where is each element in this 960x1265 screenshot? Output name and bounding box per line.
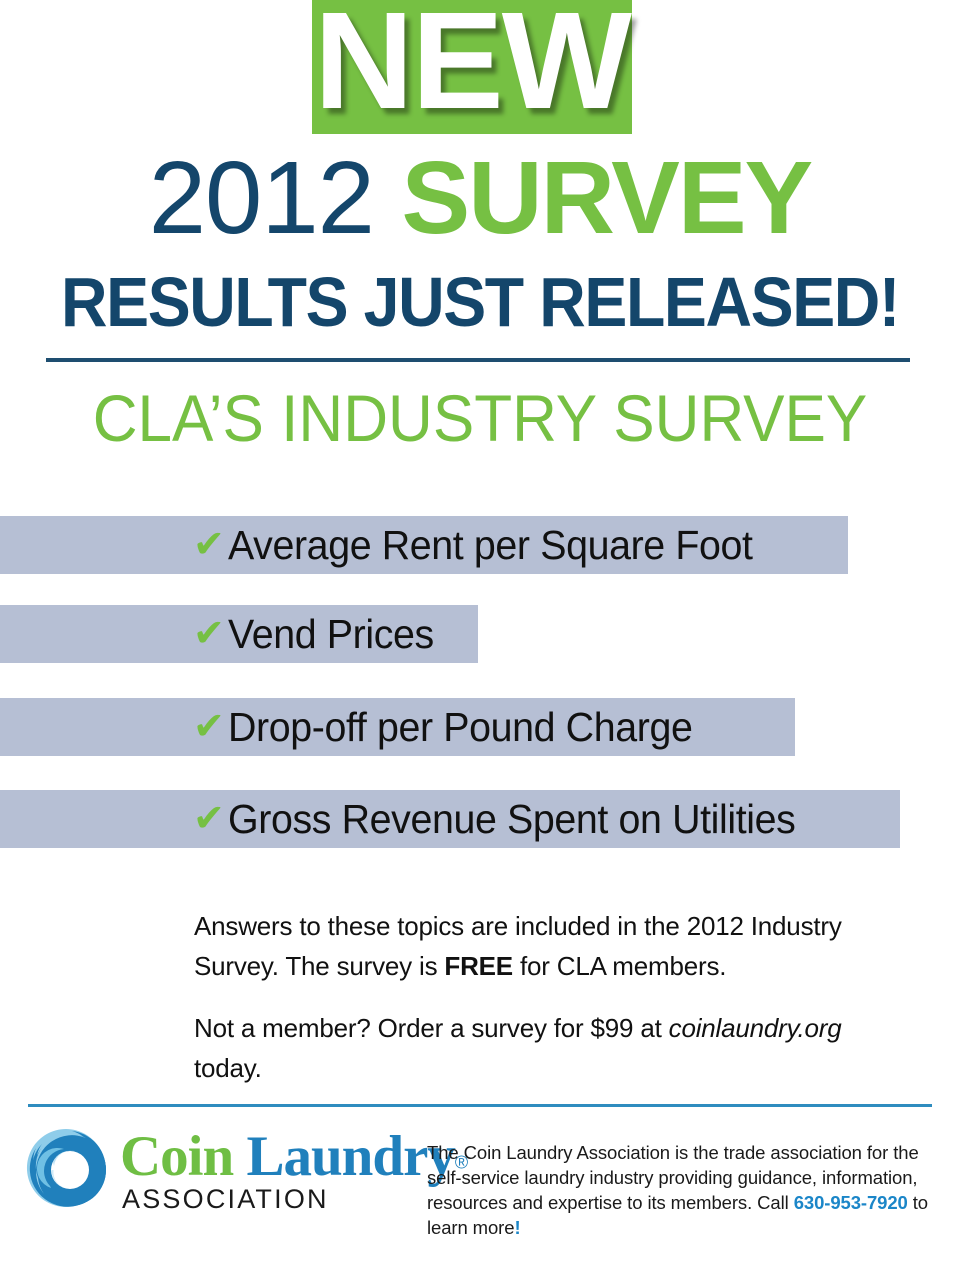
- flyer-page: NEW 2012 SURVEY RESULTS JUST RELEASED! C…: [0, 0, 960, 1265]
- body-paragraph-2: Not a member? Order a survey for $99 at …: [194, 1008, 914, 1088]
- bullet-label-3: Drop-off per Pound Charge: [228, 704, 692, 751]
- logo-coin-text: Coin: [120, 1125, 233, 1188]
- check-icon: ✔: [193, 614, 225, 652]
- headline-tertiary: CLA’S INDUSTRY SURVEY: [29, 378, 931, 458]
- divider-rule-footer: [28, 1104, 932, 1107]
- headline-survey: SURVEY: [402, 140, 812, 255]
- headline-year: 2012: [149, 140, 374, 255]
- bullet-item-1: ✔ Average Rent per Square Foot: [0, 516, 960, 574]
- bullet-item-2: ✔ Vend Prices: [0, 605, 960, 663]
- logo-wordmark: Coin Laundry®: [120, 1124, 468, 1189]
- footer-phone-number[interactable]: 630-953-7920: [794, 1192, 908, 1213]
- bullet-label-1: Average Rent per Square Foot: [228, 522, 753, 569]
- new-banner: NEW: [312, 0, 632, 134]
- body-paragraph-1: Answers to these topics are included in …: [194, 906, 914, 986]
- bullet-label-2: Vend Prices: [228, 611, 434, 658]
- divider-rule-top: [46, 358, 910, 362]
- body-p1-free: FREE: [444, 951, 513, 981]
- headline-space: [374, 140, 402, 255]
- footer-exclamation: !: [514, 1217, 520, 1238]
- check-icon: ✔: [193, 799, 225, 837]
- footer-description: The Coin Laundry Association is the trad…: [427, 1140, 937, 1240]
- bullet-item-3: ✔ Drop-off per Pound Charge: [0, 698, 960, 756]
- body-p2-part-a: Not a member? Order a survey for $99 at: [194, 1013, 669, 1043]
- logo-laundry-text: Laundry: [246, 1125, 454, 1188]
- cla-logo: Coin Laundry® ASSOCIATION: [24, 1122, 414, 1214]
- check-icon: ✔: [193, 525, 225, 563]
- swirl-circle-icon: [24, 1126, 108, 1210]
- logo-association-text: ASSOCIATION: [122, 1184, 329, 1215]
- new-banner-label: NEW: [312, 0, 632, 136]
- bullet-label-4: Gross Revenue Spent on Utilities: [228, 796, 795, 843]
- bullet-item-4: ✔ Gross Revenue Spent on Utilities: [0, 790, 960, 848]
- check-icon: ✔: [193, 707, 225, 745]
- headline-secondary: RESULTS JUST RELEASED!: [38, 264, 921, 340]
- body-p1-part-b: for CLA members.: [513, 951, 726, 981]
- body-p2-part-b: today.: [194, 1053, 262, 1083]
- headline-primary: 2012 SURVEY: [0, 146, 960, 281]
- body-p2-website[interactable]: coinlaundry.org: [669, 1013, 842, 1043]
- logo-wordmark-space: [233, 1125, 246, 1188]
